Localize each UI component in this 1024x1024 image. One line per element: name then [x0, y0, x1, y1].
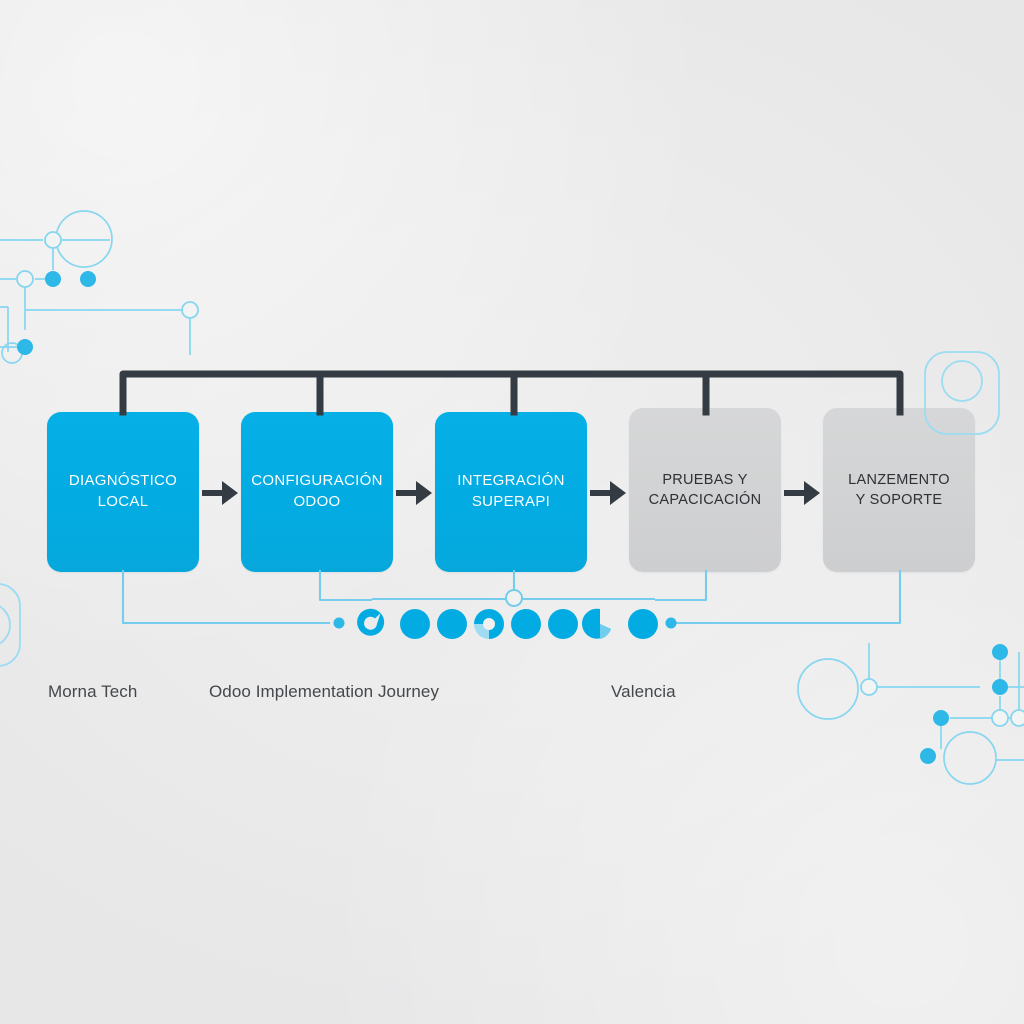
- flow-arrow-2: [394, 476, 434, 510]
- diagram-canvas: DIAGNÓSTICO LOCAL CONFIGURACIÓN ODOO INT…: [0, 0, 1024, 1024]
- dot-2-solid: [396, 605, 434, 643]
- dot-7-pie-wedge: [581, 605, 619, 643]
- dot-5-solid: [507, 605, 545, 643]
- dot-6-solid: [544, 605, 582, 643]
- dot-8-solid: [624, 605, 662, 643]
- dot-3-solid: [433, 605, 471, 643]
- flow-arrow-4: [782, 476, 822, 510]
- dot-4-donut-quadrant: [470, 605, 508, 643]
- dot-1-ring-gap: [352, 605, 390, 643]
- flow-arrow-1: [200, 476, 240, 510]
- flow-arrow-3: [588, 476, 628, 510]
- progress-dot-row: [352, 605, 662, 647]
- top-bracket: [0, 0, 1024, 1024]
